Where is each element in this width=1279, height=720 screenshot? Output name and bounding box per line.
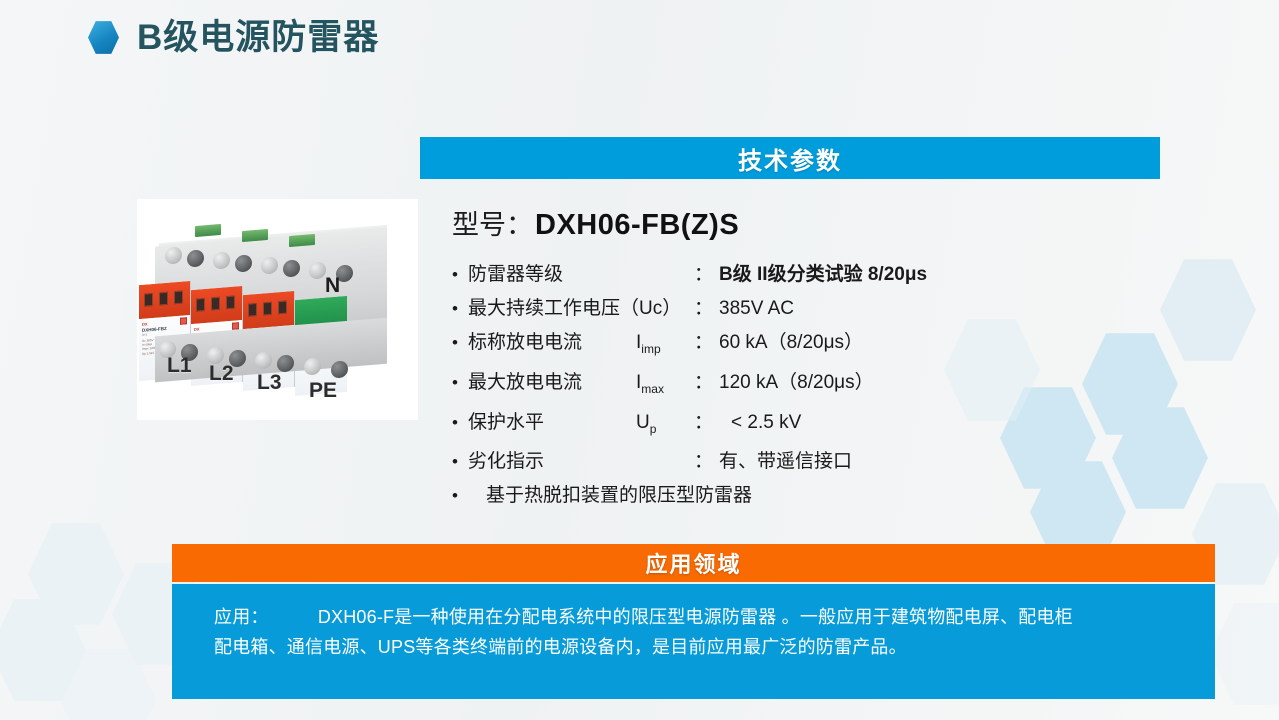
pole-label-l2: L2 xyxy=(209,362,234,386)
spec-item-grade: • 防雷器等级 ： B级 II级分类试验 8/20μs xyxy=(452,258,1012,292)
neutral-label: N xyxy=(325,274,340,298)
tech-params-header-text: 技术参数 xyxy=(738,141,842,176)
remote-terminal xyxy=(289,234,315,247)
page-title-text: B级电源防雷器 xyxy=(137,20,379,55)
spec-list: • 防雷器等级 ： B级 II级分类试验 8/20μs • 最大持续工作电压（U… xyxy=(452,258,1012,513)
bullet-marker: • xyxy=(452,292,468,326)
bullet-marker: • xyxy=(452,258,468,292)
spec-name: 最大放电电流 xyxy=(468,366,636,400)
remote-terminal xyxy=(242,229,268,242)
spec-name: 标称放电电流 xyxy=(468,326,636,360)
spec-symbol: Up xyxy=(636,406,694,446)
application-header: 应用领域 xyxy=(172,544,1215,582)
product-image-content: N DX DXH06-FBZ 3+1 Uc 385VIn 60kAImax 12… xyxy=(137,199,418,420)
bullet-marker: • xyxy=(452,445,468,479)
page-title: B级电源防雷器 xyxy=(88,20,379,55)
module-cap xyxy=(191,286,242,324)
pole-label-l1: L1 xyxy=(167,354,192,378)
spec-value: 60 kA（8/20μs） xyxy=(719,326,863,360)
model-label: 型号： xyxy=(452,203,533,242)
spec-item-up: • 保护水平 Up ： < 2.5 kV xyxy=(452,406,1012,446)
application-header-text: 应用领域 xyxy=(645,547,741,579)
spec-value: B级 II级分类试验 8/20μs xyxy=(719,258,927,292)
spec-item-uc: • 最大持续工作电压（Uc） ： 385V AC xyxy=(452,292,1012,326)
spec-value: < 2.5 kV xyxy=(731,406,801,440)
spec-symbol: Iimp xyxy=(636,326,694,366)
module-cap xyxy=(139,281,190,319)
spec-symbol: Imax xyxy=(636,366,694,406)
spec-colon: ： xyxy=(694,445,713,479)
spec-item-indicator: • 劣化指示 ： 有、带遥信接口 xyxy=(452,445,1012,479)
spec-colon: ： xyxy=(694,258,713,292)
slide-canvas: B级电源防雷器 技术参数 N xyxy=(0,0,1279,720)
application-line2: 配电箱、通信电源、UPS等各类终端前的电源设备内，是目前应用最广泛的防雷产品。 xyxy=(214,637,907,657)
remote-terminal xyxy=(195,224,221,237)
spec-name: 劣化指示 xyxy=(468,445,668,479)
application-text: 应用： DXH06-F是一种使用在分配电系统中的限压型电源防雷器 。一般应用于建… xyxy=(214,602,1201,662)
spec-item-imax: • 最大放电电流 Imax ： 120 kA（8/20μs） xyxy=(452,366,1012,406)
application-body: 应用： DXH06-F是一种使用在分配电系统中的限压型电源防雷器 。一般应用于建… xyxy=(172,584,1215,699)
spec-value: 385V AC xyxy=(719,292,794,326)
spec-colon: ： xyxy=(694,292,713,326)
model-value: DXH06-FB(Z)S xyxy=(535,209,739,242)
spec-value: 120 kA（8/20μs） xyxy=(719,366,874,400)
pole-label-l3: L3 xyxy=(257,371,282,395)
spec-name: 防雷器等级 xyxy=(468,258,668,292)
application-label: 应用： xyxy=(214,607,269,627)
spec-colon: ： xyxy=(694,326,713,360)
spec-item-iimp: • 标称放电电流 Iimp ： 60 kA（8/20μs） xyxy=(452,326,1012,366)
module-cap xyxy=(243,291,294,329)
spec-value: 有、带遥信接口 xyxy=(719,445,852,479)
product-image: N DX DXH06-FBZ 3+1 Uc 385VIn 60kAImax 12… xyxy=(137,199,418,420)
bullet-marker: • xyxy=(452,326,468,360)
hexagon-icon xyxy=(88,21,119,55)
spec-item-type: • 基于热脱扣装置的限压型防雷器 xyxy=(452,479,1012,513)
spec-name: 最大持续工作电压（Uc） xyxy=(468,292,668,326)
spec-name: 保护水平 xyxy=(468,406,636,440)
bullet-marker: • xyxy=(452,366,468,400)
application-line1: DXH06-F是一种使用在分配电系统中的限压型电源防雷器 。一般应用于建筑物配电… xyxy=(318,607,1073,627)
bullet-marker: • xyxy=(452,406,468,440)
tech-params-header: 技术参数 xyxy=(420,137,1160,179)
spec-value: 基于热脱扣装置的限压型防雷器 xyxy=(486,479,752,513)
model-line: 型号： DXH06-FB(Z)S xyxy=(452,203,739,242)
spec-colon: ： xyxy=(694,366,713,400)
spec-colon: ： xyxy=(694,406,713,440)
bullet-marker: • xyxy=(452,479,468,513)
pole-label-pe: PE xyxy=(309,379,337,403)
